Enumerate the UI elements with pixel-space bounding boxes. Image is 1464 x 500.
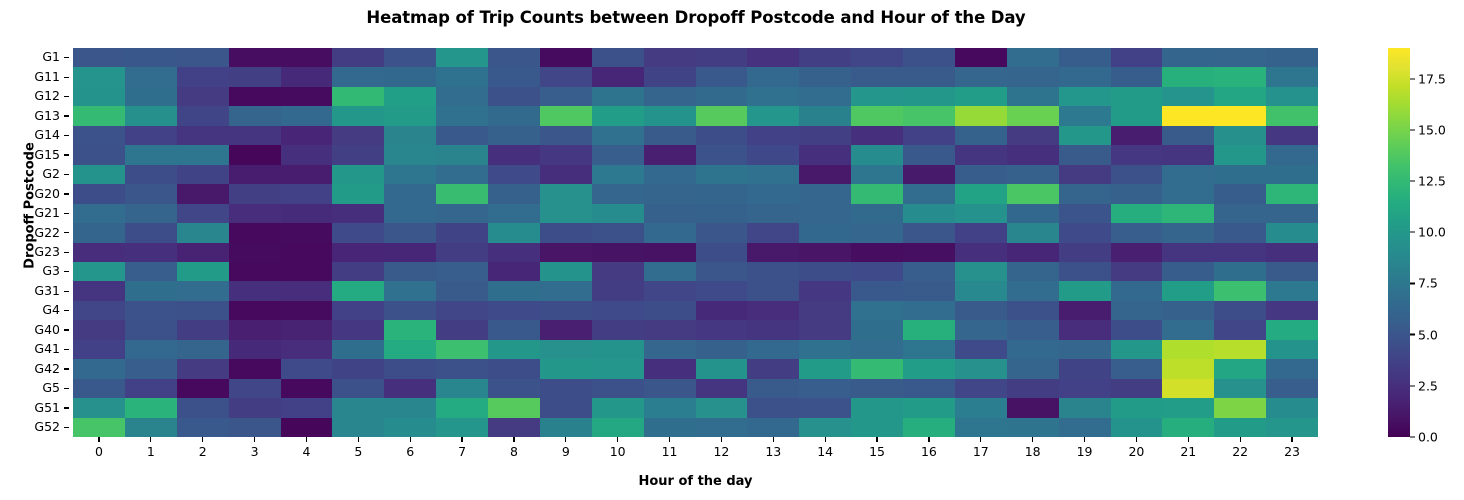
heatmap-cell xyxy=(540,223,592,242)
colorbar-tick: 10.0 xyxy=(1410,225,1446,240)
heatmap-cell xyxy=(955,48,1007,67)
heatmap-cell xyxy=(1266,243,1318,262)
heatmap-cell xyxy=(229,165,281,184)
heatmap-cell xyxy=(696,320,748,339)
colorbar-tick-label: 2.5 xyxy=(1418,378,1438,393)
x-tick-mark xyxy=(358,437,359,442)
heatmap-cell xyxy=(332,204,384,223)
heatmap-cell xyxy=(540,379,592,398)
heatmap-cell xyxy=(436,67,488,86)
heatmap-cell xyxy=(73,418,125,437)
heatmap-cell xyxy=(540,359,592,378)
heatmap-cell xyxy=(1162,48,1214,67)
heatmap-cell xyxy=(1214,223,1266,242)
heatmap-cell xyxy=(1111,48,1163,67)
heatmap-cell xyxy=(851,145,903,164)
heatmap-cell xyxy=(1214,398,1266,417)
heatmap-cell xyxy=(747,379,799,398)
heatmap-cell xyxy=(488,281,540,300)
heatmap-cell xyxy=(229,67,281,86)
heatmap-cell xyxy=(1059,223,1111,242)
heatmap-cell xyxy=(747,204,799,223)
heatmap-cell xyxy=(644,379,696,398)
heatmap-cell xyxy=(1007,165,1059,184)
heatmap-cell xyxy=(73,204,125,223)
colorbar-tick-label: 7.5 xyxy=(1418,276,1438,291)
heatmap-cell xyxy=(540,145,592,164)
heatmap-cell xyxy=(1162,145,1214,164)
heatmap-cell xyxy=(384,301,436,320)
heatmap-cell xyxy=(125,165,177,184)
heatmap-cell xyxy=(281,223,333,242)
heatmap-cell xyxy=(436,320,488,339)
heatmap-cell xyxy=(73,243,125,262)
y-tick-label: G22 xyxy=(34,227,62,240)
y-tick-label: G13 xyxy=(34,110,62,123)
y-tick-mark xyxy=(64,213,69,214)
heatmap-cell xyxy=(384,67,436,86)
heatmap-cell xyxy=(281,48,333,67)
heatmap-cell xyxy=(229,320,281,339)
heatmap-cell xyxy=(125,223,177,242)
heatmap-cell xyxy=(1266,301,1318,320)
heatmap-cell xyxy=(1214,359,1266,378)
heatmap-cell xyxy=(332,398,384,417)
heatmap-cell xyxy=(1162,184,1214,203)
heatmap-cell xyxy=(799,145,851,164)
heatmap-cell xyxy=(644,320,696,339)
heatmap-cell xyxy=(229,340,281,359)
heatmap-cell xyxy=(1162,223,1214,242)
heatmap-cell xyxy=(332,281,384,300)
heatmap-cell xyxy=(73,184,125,203)
y-tick-mark xyxy=(64,57,69,58)
heatmap-cell xyxy=(1162,165,1214,184)
heatmap-cell xyxy=(851,126,903,145)
heatmap-cell xyxy=(1059,379,1111,398)
heatmap-cell xyxy=(1059,184,1111,203)
heatmap-cell xyxy=(384,48,436,67)
heatmap-cell xyxy=(644,145,696,164)
heatmap-cell xyxy=(488,340,540,359)
heatmap-cell xyxy=(1007,87,1059,106)
heatmap-cell xyxy=(1162,243,1214,262)
heatmap-cell xyxy=(1007,106,1059,125)
colorbar-gradient xyxy=(1388,48,1410,437)
heatmap-cell xyxy=(592,359,644,378)
heatmap-cell xyxy=(281,359,333,378)
x-tick-mark xyxy=(254,437,255,442)
heatmap-cell xyxy=(696,281,748,300)
heatmap-cell xyxy=(281,106,333,125)
heatmap-cell xyxy=(851,223,903,242)
heatmap-cell xyxy=(1111,67,1163,86)
heatmap-cell xyxy=(1266,165,1318,184)
y-tick-label: G41 xyxy=(34,343,62,356)
heatmap-cell xyxy=(1111,243,1163,262)
heatmap-cell xyxy=(332,359,384,378)
x-tick-mark xyxy=(461,437,462,442)
heatmap-cell xyxy=(1007,281,1059,300)
heatmap-cell xyxy=(799,359,851,378)
heatmap-cell xyxy=(799,418,851,437)
heatmap-cell xyxy=(1162,204,1214,223)
heatmap-cell xyxy=(747,262,799,281)
heatmap-cell xyxy=(384,281,436,300)
heatmap-cell xyxy=(1007,418,1059,437)
heatmap-cell xyxy=(332,418,384,437)
heatmap-cell xyxy=(1111,165,1163,184)
heatmap-cell xyxy=(1059,340,1111,359)
heatmap-cell xyxy=(592,106,644,125)
heatmap-cell xyxy=(177,398,229,417)
heatmap-cell xyxy=(1214,262,1266,281)
heatmap-cell xyxy=(488,145,540,164)
heatmap-cell xyxy=(332,320,384,339)
heatmap-cell xyxy=(644,204,696,223)
heatmap-cell xyxy=(177,359,229,378)
heatmap-cell xyxy=(332,243,384,262)
x-tick-mark xyxy=(1240,437,1241,442)
x-tick-mark xyxy=(410,437,411,442)
heatmap-cell xyxy=(799,184,851,203)
heatmap-cell xyxy=(229,223,281,242)
heatmap-cell xyxy=(851,184,903,203)
y-tick-mark xyxy=(64,291,69,292)
heatmap-cell xyxy=(1214,243,1266,262)
heatmap-cell xyxy=(73,340,125,359)
heatmap-cell xyxy=(1059,67,1111,86)
heatmap-cell xyxy=(229,145,281,164)
heatmap-cell xyxy=(384,379,436,398)
heatmap-cell xyxy=(1111,106,1163,125)
heatmap-cell xyxy=(384,106,436,125)
heatmap-cell xyxy=(1007,243,1059,262)
x-tick-label: 20 xyxy=(1111,444,1163,462)
x-tick-label: 16 xyxy=(903,444,955,462)
heatmap-cell xyxy=(229,379,281,398)
heatmap-cell xyxy=(229,262,281,281)
heatmap-cell xyxy=(592,87,644,106)
heatmap-cell xyxy=(1111,223,1163,242)
heatmap-cell xyxy=(488,301,540,320)
x-tick-label: 22 xyxy=(1214,444,1266,462)
heatmap-cell xyxy=(1266,106,1318,125)
heatmap-cell xyxy=(1162,301,1214,320)
heatmap-cell xyxy=(1059,301,1111,320)
heatmap-cell xyxy=(696,145,748,164)
y-tick-mark xyxy=(64,115,69,116)
heatmap-cell xyxy=(281,87,333,106)
heatmap-cell xyxy=(851,48,903,67)
y-tick-mark xyxy=(64,252,69,253)
heatmap-cell xyxy=(851,87,903,106)
y-tick-label: G52 xyxy=(34,421,62,434)
heatmap-cell xyxy=(73,320,125,339)
heatmap-cell xyxy=(799,243,851,262)
heatmap-cell xyxy=(73,359,125,378)
heatmap-cell xyxy=(644,184,696,203)
heatmap-cell xyxy=(281,301,333,320)
heatmap-cell xyxy=(125,106,177,125)
y-tick-mark xyxy=(64,368,69,369)
heatmap-cell xyxy=(955,145,1007,164)
heatmap-cell xyxy=(747,126,799,145)
heatmap-cell xyxy=(1007,223,1059,242)
heatmap-cell xyxy=(851,301,903,320)
x-tick-label: 6 xyxy=(384,444,436,462)
heatmap-cell xyxy=(177,281,229,300)
heatmap-cell xyxy=(281,126,333,145)
heatmap-cell xyxy=(177,184,229,203)
heatmap-cell xyxy=(592,262,644,281)
heatmap-cell xyxy=(592,320,644,339)
colorbar-tick-mark xyxy=(1410,232,1415,233)
heatmap-cell xyxy=(281,145,333,164)
heatmap-cell xyxy=(177,204,229,223)
colorbar-tick-mark xyxy=(1410,180,1415,181)
heatmap-cell xyxy=(644,301,696,320)
heatmap-cell xyxy=(281,379,333,398)
heatmap-cell xyxy=(1111,340,1163,359)
x-tick-label: 10 xyxy=(592,444,644,462)
heatmap-cell xyxy=(1059,87,1111,106)
heatmap-cell xyxy=(696,204,748,223)
heatmap-cell xyxy=(384,223,436,242)
x-tick-mark xyxy=(565,437,566,442)
heatmap-cell xyxy=(592,340,644,359)
heatmap-cell xyxy=(955,301,1007,320)
x-tick-label: 5 xyxy=(332,444,384,462)
heatmap-cell xyxy=(73,126,125,145)
heatmap-cell xyxy=(696,126,748,145)
heatmap-cell xyxy=(851,204,903,223)
heatmap-cell xyxy=(177,48,229,67)
heatmap-cell xyxy=(488,87,540,106)
heatmap-cell xyxy=(281,320,333,339)
heatmap-cell xyxy=(799,165,851,184)
x-tick-label: 18 xyxy=(1007,444,1059,462)
heatmap-cell xyxy=(488,418,540,437)
heatmap-cell xyxy=(73,145,125,164)
y-tick-label: G1 xyxy=(42,51,62,64)
x-tick-mark xyxy=(1188,437,1189,442)
heatmap-cell xyxy=(955,418,1007,437)
heatmap-cell xyxy=(1266,145,1318,164)
heatmap-cell xyxy=(1214,126,1266,145)
heatmap-cell xyxy=(1111,281,1163,300)
heatmap-cell xyxy=(177,87,229,106)
heatmap-cell xyxy=(332,106,384,125)
heatmap-cell xyxy=(281,262,333,281)
heatmap-cell xyxy=(644,126,696,145)
heatmap-plot-area xyxy=(73,48,1318,437)
heatmap-cell xyxy=(644,87,696,106)
heatmap-cell xyxy=(1162,67,1214,86)
heatmap-cell xyxy=(73,106,125,125)
heatmap-cell xyxy=(229,184,281,203)
heatmap-cell xyxy=(903,145,955,164)
heatmap-cell xyxy=(1007,359,1059,378)
x-tick-label: 3 xyxy=(229,444,281,462)
heatmap-cell xyxy=(125,87,177,106)
heatmap-cell xyxy=(903,418,955,437)
heatmap-cell xyxy=(1162,320,1214,339)
heatmap-cell xyxy=(332,48,384,67)
heatmap-cell xyxy=(281,67,333,86)
heatmap-cell xyxy=(955,223,1007,242)
heatmap-cell xyxy=(384,340,436,359)
heatmap-cell xyxy=(696,184,748,203)
heatmap-cell xyxy=(229,106,281,125)
heatmap-cell xyxy=(1266,398,1318,417)
heatmap-cell xyxy=(1007,145,1059,164)
heatmap-cell xyxy=(384,165,436,184)
heatmap-cell xyxy=(384,184,436,203)
x-tick-label: 0 xyxy=(73,444,125,462)
y-tick-mark xyxy=(64,96,69,97)
x-tick-mark xyxy=(1032,437,1033,442)
heatmap-cell xyxy=(1266,67,1318,86)
heatmap-cell xyxy=(177,67,229,86)
heatmap-cell xyxy=(799,340,851,359)
x-tick-mark xyxy=(721,437,722,442)
heatmap-cell xyxy=(747,340,799,359)
heatmap-cell xyxy=(747,145,799,164)
heatmap-cell xyxy=(540,243,592,262)
heatmap-cell xyxy=(696,340,748,359)
heatmap-cell xyxy=(488,398,540,417)
heatmap-cell xyxy=(955,106,1007,125)
y-tick-mark xyxy=(64,388,69,389)
figure-canvas: Heatmap of Trip Counts between Dropoff P… xyxy=(0,0,1464,500)
heatmap-cell xyxy=(281,243,333,262)
heatmap-cell xyxy=(747,48,799,67)
heatmap-cell xyxy=(1162,126,1214,145)
y-tick-mark xyxy=(64,271,69,272)
x-tick-label: 21 xyxy=(1162,444,1214,462)
heatmap-cell xyxy=(436,418,488,437)
heatmap-cell xyxy=(747,106,799,125)
heatmap-cell xyxy=(851,106,903,125)
heatmap-cell xyxy=(1059,398,1111,417)
heatmap-cell xyxy=(229,301,281,320)
heatmap-cell xyxy=(73,301,125,320)
heatmap-cell xyxy=(592,184,644,203)
heatmap-cell xyxy=(747,398,799,417)
heatmap-cell xyxy=(540,67,592,86)
heatmap-cell xyxy=(1007,301,1059,320)
heatmap-cell xyxy=(1266,223,1318,242)
heatmap-cell xyxy=(955,126,1007,145)
heatmap-cell xyxy=(696,67,748,86)
heatmap-cell xyxy=(1007,262,1059,281)
heatmap-cell xyxy=(1007,126,1059,145)
heatmap-cell xyxy=(1111,320,1163,339)
heatmap-cell xyxy=(644,223,696,242)
heatmap-cell xyxy=(903,379,955,398)
heatmap-cell xyxy=(1266,418,1318,437)
heatmap-cell xyxy=(384,262,436,281)
heatmap-cell xyxy=(955,379,1007,398)
heatmap-cell xyxy=(125,359,177,378)
heatmap-cell xyxy=(1214,281,1266,300)
heatmap-cell xyxy=(955,320,1007,339)
heatmap-cell xyxy=(177,223,229,242)
heatmap-cell xyxy=(384,87,436,106)
heatmap-cell xyxy=(436,223,488,242)
heatmap-cell xyxy=(332,262,384,281)
heatmap-cell xyxy=(1266,126,1318,145)
colorbar-tick-label: 10.0 xyxy=(1418,225,1446,240)
y-tick-mark xyxy=(64,154,69,155)
y-tick-label: G23 xyxy=(34,246,62,259)
heatmap-cell xyxy=(644,340,696,359)
heatmap-cell xyxy=(799,48,851,67)
heatmap-cell xyxy=(644,106,696,125)
heatmap-cell xyxy=(332,145,384,164)
heatmap-cell xyxy=(488,320,540,339)
heatmap-cell xyxy=(1214,48,1266,67)
colorbar-tick: 15.0 xyxy=(1410,122,1446,137)
colorbar-tick-mark xyxy=(1410,385,1415,386)
heatmap-cell xyxy=(799,398,851,417)
heatmap-cell xyxy=(1059,145,1111,164)
y-tick-label: G40 xyxy=(34,324,62,337)
heatmap-cell xyxy=(488,359,540,378)
heatmap-cell xyxy=(696,418,748,437)
heatmap-cell xyxy=(229,126,281,145)
x-tick-mark xyxy=(773,437,774,442)
heatmap-cell xyxy=(851,243,903,262)
heatmap-cell xyxy=(1007,48,1059,67)
y-tick-mark xyxy=(64,135,69,136)
y-tick-mark xyxy=(64,427,69,428)
heatmap-cell xyxy=(436,87,488,106)
heatmap-cell xyxy=(177,320,229,339)
heatmap-cell xyxy=(851,418,903,437)
x-tick-mark xyxy=(150,437,151,442)
y-tick-label: G15 xyxy=(34,149,62,162)
heatmap-cell xyxy=(851,359,903,378)
heatmap-cell xyxy=(799,126,851,145)
heatmap-cell xyxy=(384,398,436,417)
heatmap-cell xyxy=(903,67,955,86)
y-tick-mark xyxy=(64,174,69,175)
heatmap-cell xyxy=(73,67,125,86)
heatmap-cell xyxy=(799,262,851,281)
colorbar-tick: 7.5 xyxy=(1410,276,1438,291)
heatmap-cell xyxy=(799,106,851,125)
heatmap-cell xyxy=(436,204,488,223)
y-tick-label: G12 xyxy=(34,90,62,103)
heatmap-cell xyxy=(955,262,1007,281)
heatmap-cell xyxy=(125,126,177,145)
heatmap-cell xyxy=(903,243,955,262)
colorbar-tick: 12.5 xyxy=(1410,174,1446,189)
heatmap-cell xyxy=(1162,418,1214,437)
x-tick-mark xyxy=(1084,437,1085,442)
heatmap-cell xyxy=(592,243,644,262)
heatmap-cell xyxy=(1059,281,1111,300)
heatmap-cell xyxy=(436,145,488,164)
heatmap-cell xyxy=(644,48,696,67)
heatmap-cell xyxy=(332,184,384,203)
heatmap-cell xyxy=(540,126,592,145)
heatmap-cell xyxy=(1214,184,1266,203)
heatmap-cell xyxy=(177,165,229,184)
heatmap-cell xyxy=(229,48,281,67)
